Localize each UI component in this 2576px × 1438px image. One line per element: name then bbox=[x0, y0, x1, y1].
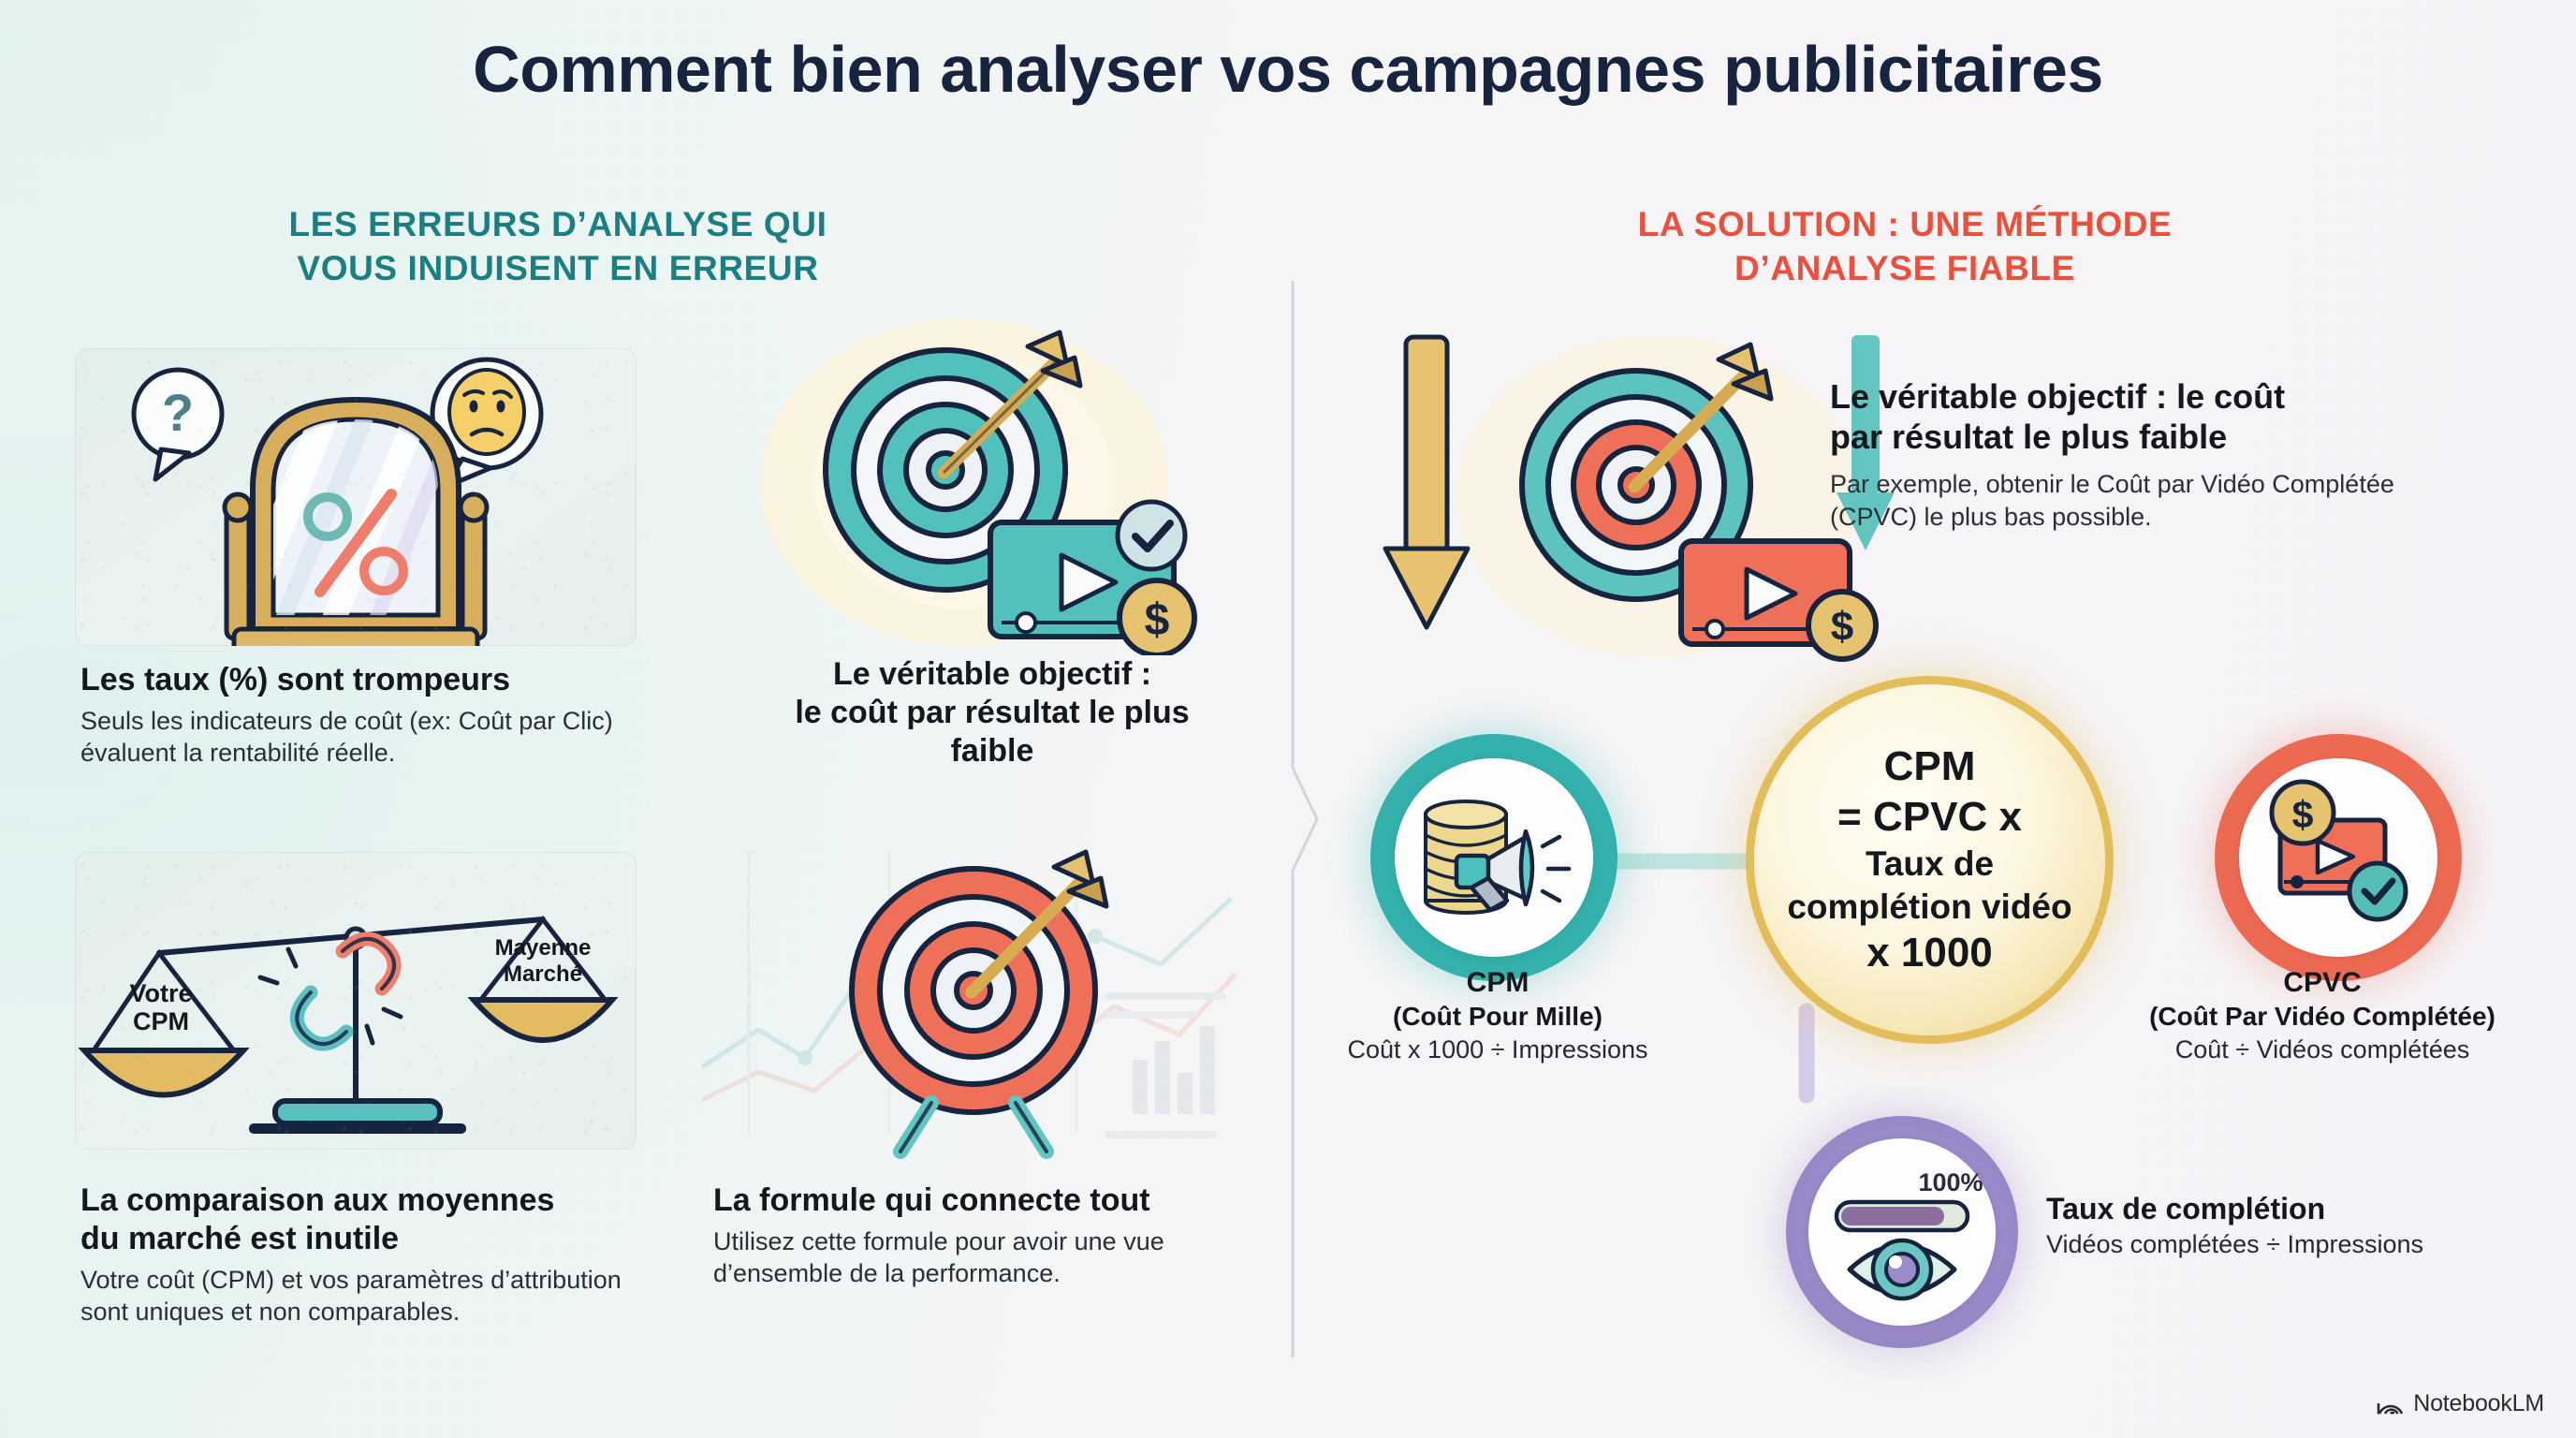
error-2-text: La comparaison aux moyennes du marché es… bbox=[80, 1181, 661, 1328]
node-cpvc-subtitle: (Coût Par Vidéo Complétée) bbox=[2067, 1001, 2576, 1033]
node-cpm-subtitle: (Coût Pour Mille) bbox=[1329, 1001, 1666, 1033]
error-1-text: Les taux (%) sont trompeurs Seuls les in… bbox=[80, 661, 642, 770]
middle-2-body: Utilisez cette formule pour avoir une vu… bbox=[713, 1225, 1275, 1290]
coin-video-check-icon: $ bbox=[2239, 758, 2437, 957]
left-section-heading: LES ERREURS D’ANALYSE QUI VOUS INDUISENT… bbox=[193, 203, 923, 291]
formula-line-2: = CPVC x bbox=[1787, 792, 2071, 843]
solution-top-text: Le véritable objectif : le coût par résu… bbox=[1830, 376, 2448, 533]
node-cpm-label: CPM (Coût Pour Mille) Coût x 1000 ÷ Impr… bbox=[1329, 966, 1666, 1066]
scale-right-label-line1: Mayenne bbox=[495, 935, 592, 961]
dollar-coin-icon: $ bbox=[2272, 782, 2334, 844]
middle-2-text: La formule qui connecte tout Utilisez ce… bbox=[713, 1181, 1275, 1290]
error-2-body: Votre coût (CPM) et vos paramètres d’att… bbox=[80, 1264, 661, 1328]
formula-line-5: x 1000 bbox=[1787, 928, 2071, 978]
middle-1-text: Le véritable objectif : le coût par résu… bbox=[711, 655, 1273, 775]
node-completion-title: Taux de complétion bbox=[2046, 1191, 2570, 1227]
node-cpvc-title: CPVC bbox=[2067, 966, 2576, 1001]
mirror-icon bbox=[207, 392, 487, 646]
node-cpm[interactable] bbox=[1370, 734, 1617, 981]
solution-top-heading-line-2: par résultat le plus faible bbox=[1830, 418, 2227, 456]
node-cpm-inner bbox=[1395, 758, 1593, 957]
formula-line-4: complétion vidéo bbox=[1787, 886, 2071, 929]
node-completion-rate[interactable]: 100% bbox=[1786, 1116, 2018, 1348]
infographic-canvas: Comment bien analyser vos campagnes publ… bbox=[0, 0, 2576, 1438]
check-badge-icon bbox=[2349, 863, 2406, 919]
middle-1-heading-line-3: faible bbox=[951, 733, 1034, 769]
svg-text:$: $ bbox=[1831, 604, 1853, 650]
node-completion-label: Taux de complétion Vidéos complétées ÷ I… bbox=[2046, 1191, 2570, 1261]
coral-target-illustration bbox=[693, 833, 1273, 1161]
error-1-heading: Les taux (%) sont trompeurs bbox=[80, 661, 642, 699]
svg-text:$: $ bbox=[1145, 595, 1170, 645]
svg-text:?: ? bbox=[162, 383, 194, 442]
node-cpvc-formula: Coût ÷ Vidéos complétées bbox=[2067, 1034, 2576, 1066]
question-bubble-icon: ? bbox=[134, 370, 222, 479]
center-formula-text: CPM = CPVC x Taux de complétion vidéo x … bbox=[1770, 741, 2088, 978]
node-cpvc-label: CPVC (Coût Par Vidéo Complétée) Coût ÷ V… bbox=[2067, 966, 2576, 1066]
watermark-text: NotebookLM bbox=[2413, 1390, 2544, 1417]
eye-icon bbox=[1850, 1240, 1954, 1299]
formula-line-3: Taux de bbox=[1787, 843, 2071, 886]
middle-1-heading-line-1: Le véritable objectif : bbox=[833, 656, 1151, 692]
teal-target-illustration: $ bbox=[693, 318, 1273, 655]
solution-top-heading: Le véritable objectif : le coût par résu… bbox=[1830, 376, 2448, 457]
section-divider bbox=[1287, 281, 1325, 1357]
percent-symbol-icon bbox=[308, 494, 403, 592]
progress-percent-label: 100% bbox=[1918, 1168, 1983, 1196]
middle-1-heading: Le véritable objectif : le coût par résu… bbox=[711, 655, 1273, 770]
mirror-illustration-card: ? bbox=[75, 348, 637, 646]
formula-line-1: CPM bbox=[1787, 741, 2071, 792]
confused-face-bubble-icon bbox=[432, 359, 541, 487]
node-cpm-title: CPM bbox=[1329, 966, 1666, 1001]
center-formula-node[interactable]: CPM = CPVC x Taux de complétion vidéo x … bbox=[1754, 684, 2105, 1035]
down-arrow-gold-icon bbox=[1385, 337, 1468, 627]
scale-left-label-line2: CPM bbox=[133, 1007, 189, 1035]
balance-scale-icon: Votre CPM Mayenne Marché bbox=[84, 919, 612, 1134]
error-1-body: Seuls les indicateurs de coût (ex: Coût … bbox=[80, 705, 642, 770]
node-cpvc[interactable]: $ bbox=[2215, 734, 2462, 981]
solution-top-body: Par exemple, obtenir le Coût par Vidéo C… bbox=[1830, 468, 2448, 533]
scale-left-label-line1: Votre bbox=[129, 979, 192, 1007]
solution-top-heading-line-1: Le véritable objectif : le coût bbox=[1830, 377, 2285, 416]
error-2-heading: La comparaison aux moyennes du marché es… bbox=[80, 1181, 661, 1258]
node-completion-inner: 100% bbox=[1808, 1138, 1996, 1326]
dollar-coin-icon: $ bbox=[1808, 592, 1876, 659]
progress-eye-icon: 100% bbox=[1808, 1138, 1996, 1326]
node-cpm-formula: Coût x 1000 ÷ Impressions bbox=[1329, 1034, 1666, 1066]
error-2-heading-line-1: La comparaison aux moyennes bbox=[80, 1182, 554, 1218]
middle-2-heading: La formule qui connecte tout bbox=[713, 1181, 1275, 1220]
left-heading-line-2: VOUS INDUISENT EN ERREUR bbox=[193, 247, 923, 291]
middle-1-heading-line-2: le coût par résultat le plus bbox=[795, 695, 1189, 730]
notebooklm-logo-icon bbox=[2377, 1392, 2405, 1416]
broken-chain-icon bbox=[260, 939, 401, 1044]
page-title: Comment bien analyser vos campagnes publ… bbox=[0, 32, 2576, 107]
left-heading-line-1: LES ERREURS D’ANALYSE QUI bbox=[193, 203, 923, 247]
right-heading-line-1: LA SOLUTION : UNE MÉTHODE bbox=[1446, 203, 2364, 247]
right-section-heading: LA SOLUTION : UNE MÉTHODE D’ANALYSE FIAB… bbox=[1446, 203, 2364, 291]
error-2-heading-line-2: du marché est inutile bbox=[80, 1221, 399, 1256]
check-badge-icon bbox=[1118, 502, 1185, 569]
coins-megaphone-icon bbox=[1395, 758, 1593, 957]
right-heading-line-2: D’ANALYSE FIABLE bbox=[1446, 247, 2364, 291]
watermark: NotebookLM bbox=[2377, 1390, 2544, 1417]
node-completion-formula: Vidéos complétées ÷ Impressions bbox=[2046, 1229, 2570, 1261]
node-cpvc-inner: $ bbox=[2239, 758, 2437, 957]
balance-illustration-card: Votre CPM Mayenne Marché bbox=[75, 852, 637, 1150]
scale-right-label-line2: Marché bbox=[504, 961, 582, 987]
svg-text:$: $ bbox=[2292, 793, 2314, 836]
dollar-coin-icon: $ bbox=[1120, 580, 1194, 655]
